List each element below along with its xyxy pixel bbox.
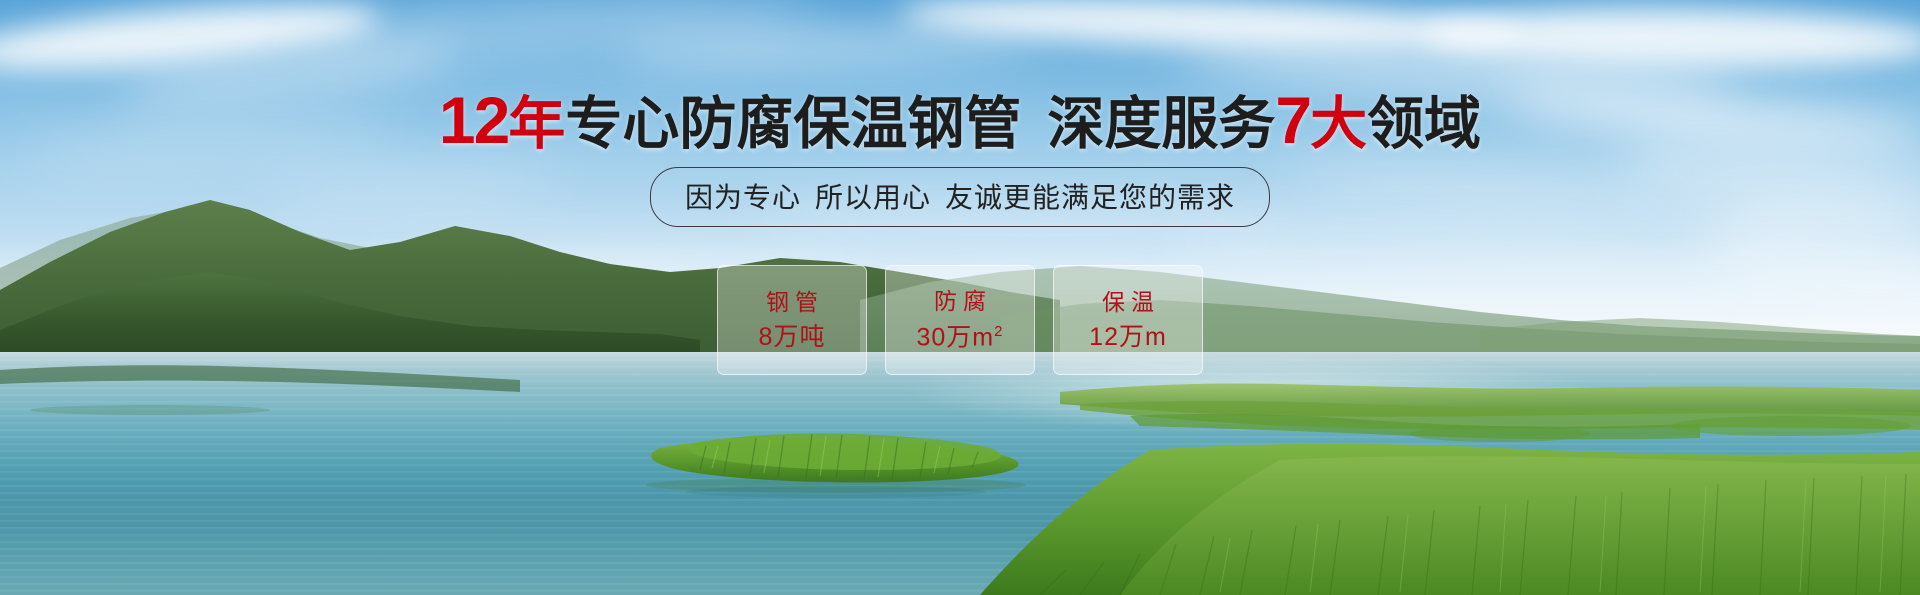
tagline-segment-2: 所以用心 xyxy=(815,182,931,213)
stat-card-value-superscript: 2 xyxy=(994,323,1003,340)
tagline-segment-1: 因为专心 xyxy=(685,182,801,213)
stat-card-value: 8万吨 xyxy=(759,325,826,350)
stat-card-title: 钢管 xyxy=(760,291,824,314)
stat-card-title: 防腐 xyxy=(928,290,992,313)
stat-card-group: 钢管 8万吨 防腐 30万m2 保温 12万m xyxy=(717,265,1203,375)
headline-part-2: 深度服务 xyxy=(1047,92,1275,156)
headline-part-3: 领域 xyxy=(1367,92,1481,156)
stat-card-title: 保温 xyxy=(1096,291,1160,314)
headline-highlight-number: 7 xyxy=(1275,83,1310,157)
tagline-segment-3: 友诚更能满足您的需求 xyxy=(945,182,1235,213)
stat-card-anticorrosion: 防腐 30万m2 xyxy=(885,265,1035,375)
stat-card-value: 30万m2 xyxy=(917,324,1004,350)
stat-card-value-text: 12万m xyxy=(1089,323,1167,351)
headline-number: 12 xyxy=(439,83,508,157)
stat-card-steel-pipe: 钢管 8万吨 xyxy=(717,265,867,375)
hero-banner: 12年专心防腐保温钢管深度服务7大领域 因为专心所以用心友诚更能满足您的需求 钢… xyxy=(0,0,1920,595)
stat-card-insulation: 保温 12万m xyxy=(1053,265,1203,375)
page-title: 12年专心防腐保温钢管深度服务7大领域 xyxy=(0,78,1920,160)
tagline-pill: 因为专心所以用心友诚更能满足您的需求 xyxy=(650,167,1270,227)
headline-part-1: 专心防腐保温钢管 xyxy=(565,92,1021,156)
stat-card-value-text: 30万m xyxy=(917,323,995,351)
stat-card-value-text: 8万吨 xyxy=(759,323,826,351)
stat-card-value: 12万m xyxy=(1089,325,1167,350)
headline-highlight-suffix: 大 xyxy=(1310,92,1367,156)
headline-number-suffix: 年 xyxy=(508,92,565,156)
